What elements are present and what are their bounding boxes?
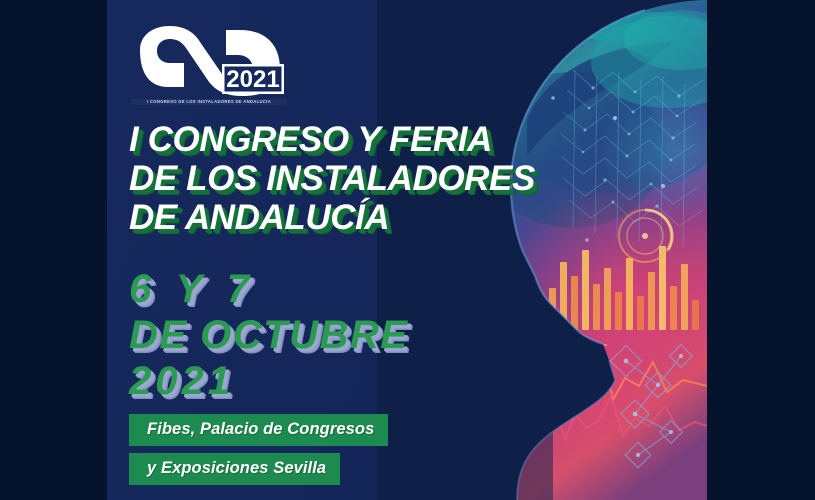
venue-row-1: Fibes, Palacio de Congresos (129, 414, 388, 453)
venue-banner-2: y Exposiciones Sevilla (129, 453, 340, 485)
date-line-2: DE OCTUBRE (129, 312, 408, 358)
date-line-3: 2021 (129, 358, 408, 404)
event-venue: Fibes, Palacio de Congresos y Exposicion… (129, 414, 388, 492)
date-line-1: 6 Y 7 (129, 266, 408, 312)
event-poster: 2021 I CONGRESO DE LOS INSTALADORES DE A… (107, 0, 707, 500)
venue-row-2: y Exposiciones Sevilla (129, 453, 388, 492)
letterbox-right (707, 0, 815, 500)
logo-year-badge: 2021 (226, 66, 279, 93)
title-line-2: DE LOS INSTALADORES (129, 159, 535, 198)
head-illustration-svg (377, 0, 707, 500)
logo-tagline: I CONGRESO DE LOS INSTALADORES DE ANDALU… (131, 99, 287, 105)
event-date: 6 Y 7 DE OCTUBRE 2021 (129, 266, 408, 404)
venue-banner-1: Fibes, Palacio de Congresos (129, 414, 388, 446)
digital-human-head-profile (377, 0, 707, 500)
letterbox-left (0, 0, 107, 500)
title-line-3: DE ANDALUCÍA (129, 198, 535, 237)
page-title: I CONGRESO Y FERIA DE LOS INSTALADORES D… (129, 120, 535, 237)
poster-root: 2021 I CONGRESO DE LOS INSTALADORES DE A… (0, 0, 815, 500)
ca-2021-monogram-logo: 2021 (130, 24, 286, 96)
logo-block: 2021 I CONGRESO DE LOS INSTALADORES DE A… (130, 24, 300, 105)
title-line-1: I CONGRESO Y FERIA (129, 120, 535, 159)
